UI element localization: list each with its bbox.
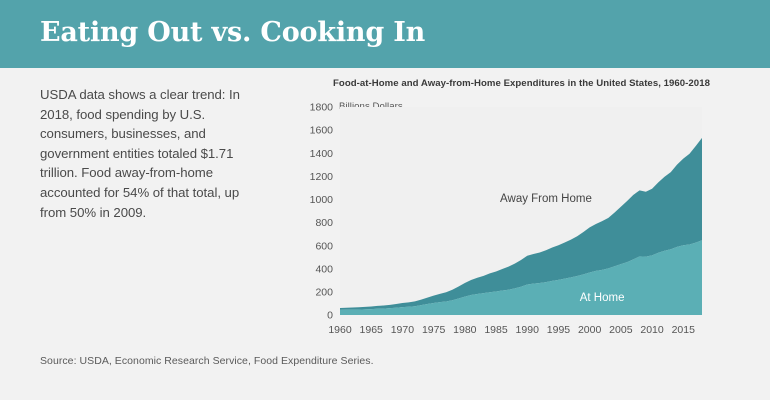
x-axis-tick-label: 2005 xyxy=(609,324,633,336)
x-axis-tick-label: 1990 xyxy=(516,324,540,336)
x-axis-tick-label: 1960 xyxy=(328,324,352,336)
y-axis-tick-label: 400 xyxy=(315,263,333,275)
y-axis-tick-label: 0 xyxy=(327,310,333,322)
x-axis-tick-label: 1970 xyxy=(391,324,415,336)
intro-paragraph: USDA data shows a clear trend: In 2018, … xyxy=(40,85,255,222)
stacked-area-chart: 180016001400120010008006004002000 196019… xyxy=(292,78,747,343)
source-note: Source: USDA, Economic Research Service,… xyxy=(40,355,374,367)
x-axis-tick-label: 1975 xyxy=(422,324,446,336)
x-axis-tick-label: 2010 xyxy=(640,324,664,336)
y-axis-tick-label: 1400 xyxy=(310,148,334,160)
y-axis-tick-label: 1000 xyxy=(310,194,334,206)
series-label-away-from-home: Away From Home xyxy=(500,193,592,205)
y-axis-ticks: 180016001400120010008006004002000 xyxy=(310,102,334,322)
x-axis-tick-label: 1995 xyxy=(547,324,571,336)
series-label-at-home: At Home xyxy=(580,292,625,304)
header-band: Eating Out vs. Cooking In xyxy=(0,0,770,68)
x-axis-tick-label: 2000 xyxy=(578,324,602,336)
y-axis-tick-label: 600 xyxy=(315,240,333,252)
infographic-card: Eating Out vs. Cooking In USDA data show… xyxy=(0,0,770,400)
y-axis-tick-label: 1800 xyxy=(310,102,334,114)
x-axis-tick-label: 1980 xyxy=(453,324,477,336)
y-axis-tick-label: 1200 xyxy=(310,171,334,183)
page-title: Eating Out vs. Cooking In xyxy=(40,17,425,48)
x-axis-tick-label: 1985 xyxy=(484,324,508,336)
x-axis-ticks: 1960196519701975198019851990199520002005… xyxy=(328,324,695,336)
y-axis-tick-label: 1600 xyxy=(310,125,334,137)
y-axis-tick-label: 200 xyxy=(315,286,333,298)
y-axis-tick-label: 800 xyxy=(315,217,333,229)
x-axis-tick-label: 1965 xyxy=(360,324,384,336)
x-axis-tick-label: 2015 xyxy=(672,324,696,336)
chart-region: Food-at-Home and Away-from-Home Expendit… xyxy=(292,78,747,343)
